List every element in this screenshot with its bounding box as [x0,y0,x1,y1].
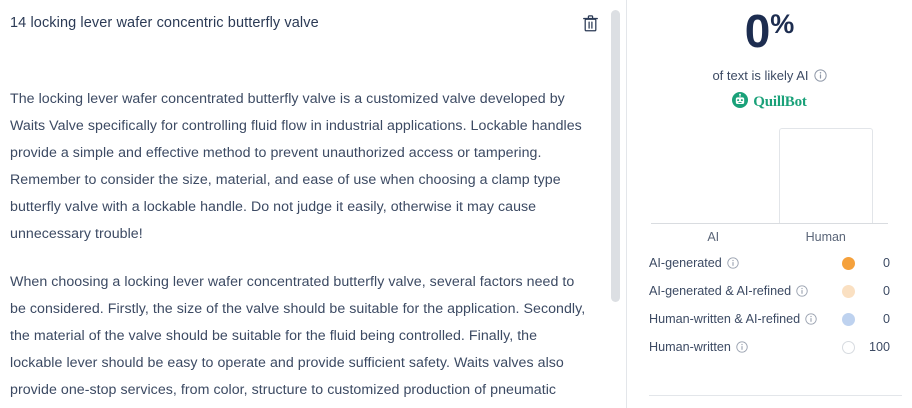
legend-label: AI-generated & AI-refined [649,284,842,298]
chart-plot-area [649,127,890,223]
bar-column-human [778,127,874,223]
legend-row-human-written: Human-written 100 [649,333,890,361]
percent-symbol: % [770,11,794,38]
legend-row-human-written-ai-refined: Human-written & AI-refined 0 [649,305,890,333]
legend-label: Human-written [649,340,842,354]
document-body[interactable]: The locking lever wafer concentrated but… [0,86,627,408]
results-panel: 0 % of text is likely AI [627,0,912,408]
legend-label-text: Human-written & AI-refined [649,312,800,326]
legend-label-text: AI-generated & AI-refined [649,284,791,298]
ai-detector-app: 14 locking lever wafer concentric butter… [0,0,912,408]
breakdown-legend: AI-generated 0 AI-generated & AI-refined [649,249,890,361]
ai-human-bar-chart: AI Human [649,127,890,231]
scrollbar[interactable] [611,0,620,408]
score-caption-label: of text is likely AI [712,68,808,83]
legend-label: AI-generated [649,256,842,270]
legend-row-ai-generated-ai-refined: AI-generated & AI-refined 0 [649,277,890,305]
info-icon[interactable] [736,341,748,353]
document-header: 14 locking lever wafer concentric butter… [0,0,627,44]
info-icon[interactable] [805,313,817,325]
legend-value: 0 [864,256,890,270]
info-icon[interactable] [796,285,808,297]
legend-value: 0 [864,284,890,298]
chart-tick-labels: AI Human [649,224,890,244]
scrollbar-thumb[interactable] [611,10,620,302]
quillbot-robot-icon [732,92,748,113]
legend-color-dot [842,257,855,270]
document-panel: 14 locking lever wafer concentric butter… [0,0,627,408]
score-section: 0 % of text is likely AI [649,0,890,113]
score-caption: of text is likely AI [649,68,890,83]
brand-name: QuillBot [753,94,806,111]
legend-color-dot [842,285,855,298]
page-title: 14 locking lever wafer concentric butter… [10,14,597,33]
bar-human [779,128,873,223]
legend-row-ai-generated: AI-generated 0 [649,249,890,277]
tick-label-ai: AI [665,230,761,244]
legend-label-text: AI-generated [649,256,722,270]
brand-lockup: QuillBot [649,92,890,113]
results-footer-divider [649,395,902,396]
legend-value: 100 [864,340,890,354]
legend-color-dot [842,341,855,354]
legend-label: Human-written & AI-refined [649,312,842,326]
legend-value: 0 [864,312,890,326]
info-icon[interactable] [814,69,827,82]
paragraph: When choosing a locking lever wafer conc… [10,269,593,408]
paragraph: The locking lever wafer concentrated but… [10,86,593,248]
score-value: 0 [745,8,770,54]
trash-icon[interactable] [579,12,601,34]
tick-label-human: Human [778,230,874,244]
ai-score: 0 % [745,8,795,54]
bar-column-ai [665,127,761,223]
legend-color-dot [842,313,855,326]
legend-label-text: Human-written [649,340,731,354]
info-icon[interactable] [727,257,739,269]
